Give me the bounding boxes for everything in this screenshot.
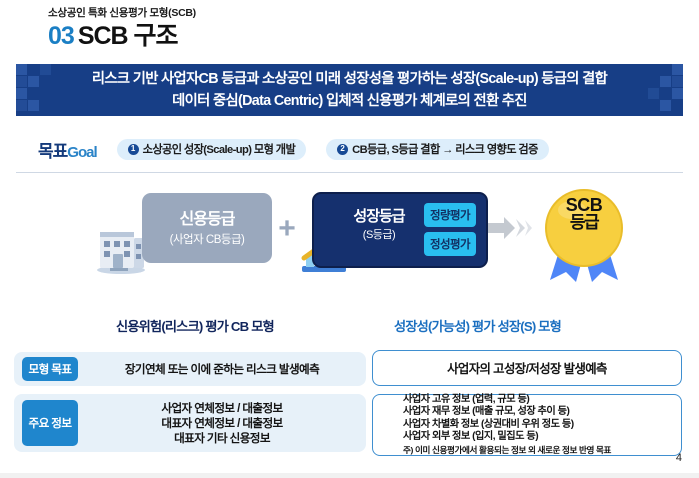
key-info-right-line: 사업자 차별화 정보 (상권대비 우위 정도 등) xyxy=(403,419,611,432)
scb-grade-label: SCB 등급 xyxy=(536,196,632,232)
key-info-right-note: 주) 이미 신용평가에서 활용되는 정보 외 새로운 정보 반영 목표 xyxy=(403,444,611,457)
right-model-goal-box: 사업자의 고성장/저성장 발생예측 xyxy=(372,350,682,386)
goal-item-2: 2 CB등급, S등급 결합 → 리스크 영향도 검증 xyxy=(326,139,549,160)
banner-line-1: 리스크 기반 사업자CB 등급과 소상공인 미래 성장성을 평가하는 성장(Sc… xyxy=(92,68,607,90)
page-title: 03SCB 구조 xyxy=(48,21,196,51)
slide: 소상공인 특화 신용평가 모형(SCB) 03SCB 구조 리스크 기반 사업자… xyxy=(0,0,699,478)
key-info-right-line: 사업자 재무 정보 (매출 규모, 성장 추이 등) xyxy=(403,406,611,419)
slide-header: 소상공인 특화 신용평가 모형(SCB) 03SCB 구조 xyxy=(48,6,196,51)
key-info-left-line: 대표자 연체정보 / 대출정보 xyxy=(82,416,362,431)
goal-row: 목표Goal 1 소상공인 성장(Scale-up) 모형 개발 2 CB등급,… xyxy=(16,132,683,166)
row-value-model-goal-right: 사업자의 고성장/저성장 발생예측 xyxy=(447,359,607,377)
section-number: 03 xyxy=(48,22,74,50)
growth-grade-box: 성장등급 (S등급) 정량평가 정성평가 xyxy=(312,192,488,268)
key-info-left-line: 사업자 연체정보 / 대출정보 xyxy=(82,401,362,416)
building-icon xyxy=(94,224,148,274)
header-kicker: 소상공인 특화 신용평가 모형(SCB) xyxy=(48,6,196,20)
goal-item-1-label: 소상공인 성장(Scale-up) 모형 개발 xyxy=(143,141,296,157)
right-model-table: 사업자의 고성장/저성장 발생예측 사업자 고유 정보 (업력, 규모 등) 사… xyxy=(372,350,682,456)
concept-diagram: 신용등급 (사업자 CB등급) + 성장등급 (S등급) 정량평가 정성평가 xyxy=(16,180,683,298)
row-label-key-info: 주요 정보 xyxy=(22,400,78,446)
goal-item-2-label: CB등급, S등급 결합 → 리스크 영향도 검증 xyxy=(352,141,538,157)
goal-label: 목표Goal xyxy=(38,137,97,162)
mosaic-pattern-right xyxy=(637,64,683,116)
goal-divider xyxy=(16,172,683,173)
goal-item-1-number: 1 xyxy=(128,144,139,155)
goal-label-ko: 목표 xyxy=(38,142,67,161)
page-number: 4 xyxy=(676,452,682,464)
goal-label-en: Goal xyxy=(67,144,96,161)
goal-item-2-number: 2 xyxy=(337,144,348,155)
headline-banner: 리스크 기반 사업자CB 등급과 소상공인 미래 성장성을 평가하는 성장(Sc… xyxy=(16,64,683,116)
chip-qualitative: 정성평가 xyxy=(424,232,476,256)
right-key-info-list: 사업자 고유 정보 (업력, 규모 등) 사업자 재무 정보 (매출 규모, 성… xyxy=(373,394,611,457)
banner-line-2: 데이터 중심(Data Centric) 입체적 신용평가 체계로의 전환 추진 xyxy=(172,90,527,112)
row-label-model-goal: 모형 목표 xyxy=(22,357,78,381)
left-model-table: 모형 목표 장기연체 또는 이에 준하는 리스크 발생예측 주요 정보 사업자 … xyxy=(14,352,366,452)
credit-grade-box: 신용등급 (사업자 CB등급) xyxy=(142,193,272,263)
column-heading-left: 신용위험(리스크) 평가 CB 모형 xyxy=(116,316,274,335)
table-row: 주요 정보 사업자 연체정보 / 대출정보 대표자 연체정보 / 대출정보 대표… xyxy=(14,394,366,452)
footer-bar xyxy=(0,473,699,478)
growth-grade-title: 성장등급 xyxy=(340,208,418,226)
plus-icon: + xyxy=(274,216,300,242)
credit-grade-title: 신용등급 xyxy=(180,210,235,229)
goal-item-1: 1 소상공인 성장(Scale-up) 모형 개발 xyxy=(117,139,307,160)
key-info-right-line: 사업자 고유 정보 (업력, 규모 등) xyxy=(403,394,611,407)
row-value-model-goal-left: 장기연체 또는 이에 준하는 리스크 발생예측 xyxy=(78,362,366,377)
right-arrow-icon xyxy=(488,216,536,240)
mosaic-pattern-left xyxy=(16,64,62,116)
right-key-info-box: 사업자 고유 정보 (업력, 규모 등) 사업자 재무 정보 (매출 규모, 성… xyxy=(372,394,682,456)
table-row: 모형 목표 장기연체 또는 이에 준하는 리스크 발생예측 xyxy=(14,352,366,386)
key-info-left-line: 대표자 기타 신용정보 xyxy=(82,431,362,446)
growth-grade-subtitle: (S등급) xyxy=(340,226,418,242)
scb-grade-line2: 등급 xyxy=(536,214,632,232)
growth-grade-text: 성장등급 (S등급) xyxy=(340,208,418,242)
row-value-key-info-left: 사업자 연체정보 / 대출정보 대표자 연체정보 / 대출정보 대표자 기타 신… xyxy=(78,401,366,446)
chip-quantitative: 정량평가 xyxy=(424,203,476,227)
section-title: SCB 구조 xyxy=(78,22,178,50)
column-heading-right: 성장성(가능성) 평가 성장(S) 모형 xyxy=(394,316,561,335)
key-info-right-line: 사업자 외부 정보 (입지, 밀집도 등) xyxy=(403,431,611,444)
scb-grade-line1: SCB xyxy=(536,196,632,214)
credit-grade-subtitle: (사업자 CB등급) xyxy=(170,231,245,247)
